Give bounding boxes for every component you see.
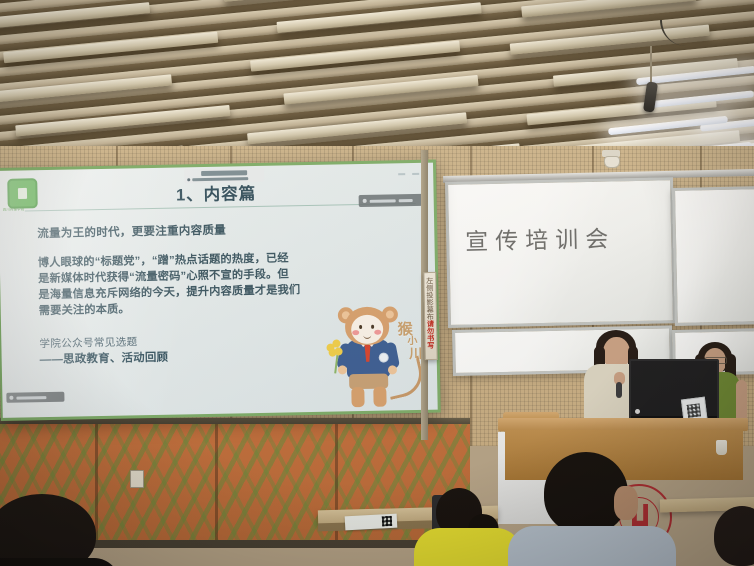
toolbar-label-placeholder	[370, 199, 396, 202]
taskbar-chip[interactable]	[6, 392, 64, 403]
presentation-toolbar-pill[interactable]	[359, 194, 423, 207]
warning-sign-line-2: 请勿书写	[427, 320, 435, 349]
taskbar-label-placeholder	[16, 396, 46, 400]
lecture-hall-photo: 宣传培训会 四川传媒学院 1、内容篇 流量为王的时代，更要注重内容质量 博人眼球…	[0, 0, 754, 566]
whiteboard-glare	[675, 189, 754, 323]
toolbar-label-placeholder	[399, 199, 413, 202]
slide-content: 四川传媒学院 1、内容篇 流量为王的时代，更要注重内容质量 博人眼球的“标题党”…	[0, 163, 438, 418]
mascot-cheek-right	[374, 330, 381, 335]
warning-sign-line-1: 左侧投影幕布	[426, 277, 434, 320]
mascot-mouth	[363, 333, 371, 339]
toast-message-row	[187, 177, 261, 181]
audience-torso	[414, 528, 522, 566]
handout-sheet	[345, 514, 398, 531]
audience-face	[614, 486, 638, 520]
mascot-leg-right	[373, 387, 386, 407]
warning-sign: 左侧投影幕布 请勿书写	[423, 272, 438, 360]
audience-head	[714, 506, 754, 566]
mascot-cheek-left	[352, 330, 359, 335]
toolbar-icon	[363, 199, 367, 203]
mascot-hand-left	[338, 365, 347, 374]
whiteboard-headline: 宣传培训会	[465, 219, 616, 256]
audience-torso	[508, 526, 676, 566]
whiteboard-right[interactable]	[672, 186, 754, 326]
mascot-eye-left	[359, 325, 362, 329]
podium-front-panel	[505, 430, 743, 480]
monitor-power-led-icon	[635, 409, 640, 414]
taskbar-icon	[9, 396, 13, 400]
microphone-icon[interactable]	[616, 382, 622, 398]
slide-paragraph: 博人眼球的“标题党”，“蹭”热点话题的热度，已经是新媒体时代获得“流量密码”心照…	[38, 251, 301, 320]
toast-text-placeholder	[192, 177, 248, 181]
audience-torso	[0, 558, 120, 566]
toast-bullet-icon	[187, 178, 190, 181]
wall-socket-icon	[130, 470, 144, 488]
system-notification-toast[interactable]	[184, 168, 264, 184]
projection-screen[interactable]: 四川传媒学院 1、内容篇 流量为王的时代，更要注重内容质量 博人眼球的“标题党”…	[0, 160, 441, 421]
qr-code-icon	[687, 403, 701, 417]
slide-lead-line: 流量为王的时代，更要注重内容质量	[37, 218, 404, 241]
toast-title-bar	[201, 170, 247, 176]
water-cup	[716, 440, 727, 455]
handout-qr-icon	[382, 516, 393, 527]
projected-slide: 四川传媒学院 1、内容篇 流量为王的时代，更要注重内容质量 博人眼球的“标题党”…	[0, 163, 438, 418]
security-camera-icon	[604, 156, 620, 168]
whiteboard-main[interactable]: 宣传培训会	[445, 177, 676, 328]
slide-corner-marks	[398, 173, 419, 175]
mascot-eye-right	[371, 325, 374, 329]
mascot-flower-icon	[326, 339, 343, 356]
mascot-illustration: 猴 小 川	[316, 302, 430, 412]
mascot-leg-left	[351, 387, 364, 407]
